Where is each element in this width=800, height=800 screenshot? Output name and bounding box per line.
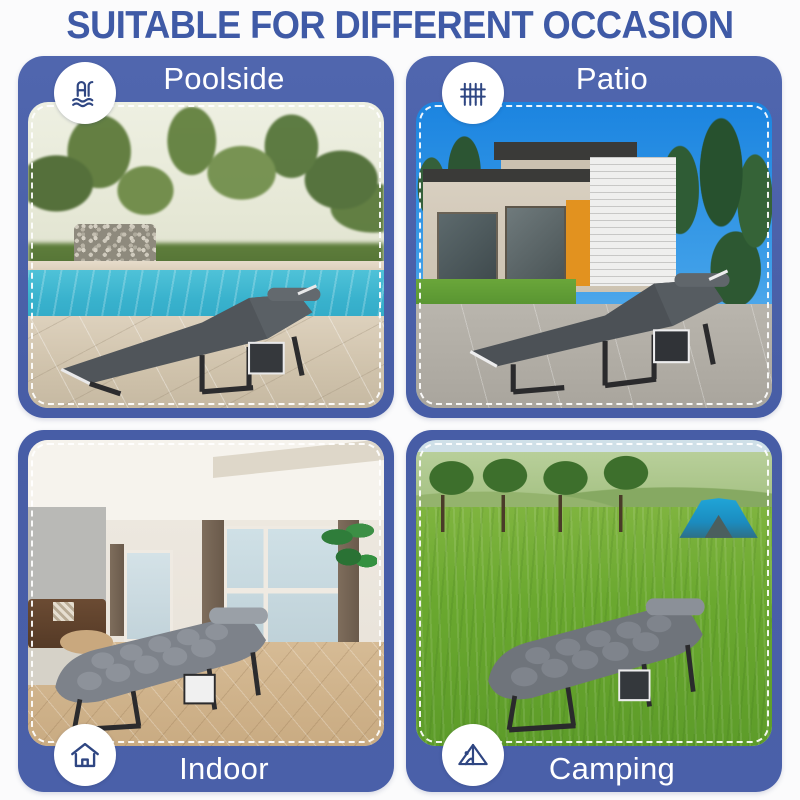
page-title: SUITABLE FOR DIFFERENT OCCASION xyxy=(28,4,772,48)
tent-in-scene xyxy=(679,498,757,538)
tent-icon xyxy=(442,724,504,786)
product-lounger xyxy=(452,237,758,396)
product-lounger xyxy=(49,249,355,402)
panel-camping[interactable]: Camping xyxy=(406,430,782,792)
product-cot-mattress xyxy=(42,581,327,734)
panel-patio[interactable]: Patio xyxy=(406,56,782,418)
house-icon xyxy=(54,724,116,786)
photo-patio xyxy=(416,102,772,408)
fence-icon xyxy=(442,62,504,124)
photo-camping xyxy=(416,440,772,746)
panel-poolside[interactable]: Poolside xyxy=(18,56,394,418)
photo-indoor xyxy=(28,440,384,746)
photo-poolside xyxy=(28,102,384,408)
panel-indoor[interactable]: Indoor xyxy=(18,430,394,792)
product-cot-mattress xyxy=(473,575,758,734)
marketing-infographic: SUITABLE FOR DIFFERENT OCCASION Poolside xyxy=(0,0,800,800)
occasion-grid: Poolside xyxy=(18,56,782,792)
pool-ladder-icon xyxy=(54,62,116,124)
